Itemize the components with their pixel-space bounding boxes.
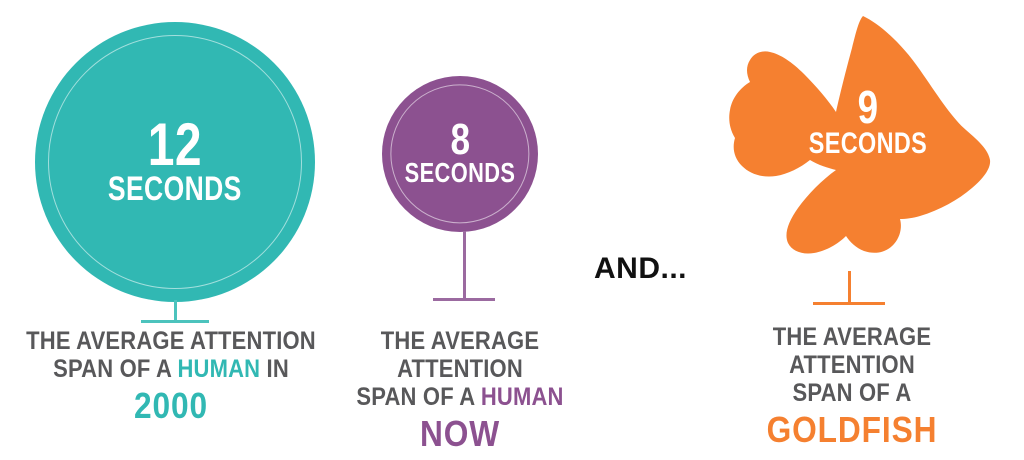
caption-goldfish: THE AVERAGE ATTENTION SPAN OF A GOLDFISH <box>720 323 984 452</box>
caption-human-2000: THE AVERAGE ATTENTION SPAN OF A HUMAN IN… <box>26 327 316 428</box>
teal-stand-post <box>174 300 177 320</box>
purple-seconds-label: SECONDS <box>405 160 516 187</box>
panel-human-now: 8 SECONDS THE AVERAGE ATTENTION SPAN OF … <box>320 0 600 460</box>
caption-line-2-highlight: HUMAN <box>481 383 564 411</box>
and-connector-text: AND... <box>594 252 687 286</box>
caption-line-2-prefix: SPAN OF A <box>356 383 480 411</box>
caption-big-year: 2000 <box>26 383 316 428</box>
teal-stand <box>141 300 209 323</box>
teal-circle-badge[interactable]: 12 SECONDS <box>35 22 315 302</box>
caption-line-2-prefix: SPAN OF A <box>793 379 912 407</box>
caption-line-2-prefix: SPAN OF A <box>53 355 177 383</box>
purple-stand-base <box>433 298 495 301</box>
purple-stand-post <box>463 231 466 298</box>
panel-goldfish: 9 SECONDS THE AVERAGE ATTENTION SPAN OF … <box>680 0 1024 460</box>
purple-circle-badge[interactable]: 8 SECONDS <box>382 76 538 232</box>
caption-line-1: THE AVERAGE ATTENTION <box>381 327 539 383</box>
caption-line-1: THE AVERAGE ATTENTION <box>773 323 931 379</box>
caption-human-now: THE AVERAGE ATTENTION SPAN OF A HUMAN NO… <box>337 327 583 456</box>
orange-stand-base <box>813 302 885 305</box>
teal-stand-base <box>141 320 209 323</box>
purple-stand <box>433 231 495 301</box>
panel-human-2000: 12 SECONDS THE AVERAGE ATTENTION SPAN OF… <box>0 0 330 460</box>
orange-stand-post <box>848 271 851 302</box>
caption-line-2-suffix: IN <box>260 355 289 383</box>
caption-big-goldfish: GOLDFISH <box>720 407 984 452</box>
caption-line-1: THE AVERAGE ATTENTION <box>26 327 316 355</box>
purple-number: 8 <box>450 121 470 159</box>
teal-number: 12 <box>148 119 202 171</box>
teal-seconds-label: SECONDS <box>108 173 242 205</box>
caption-line-2-highlight: HUMAN <box>177 355 260 383</box>
goldfish-icon[interactable] <box>688 8 1008 258</box>
caption-big-now: NOW <box>337 411 583 456</box>
infographic-canvas: 12 SECONDS THE AVERAGE ATTENTION SPAN OF… <box>0 0 1024 460</box>
orange-stand <box>813 271 885 305</box>
